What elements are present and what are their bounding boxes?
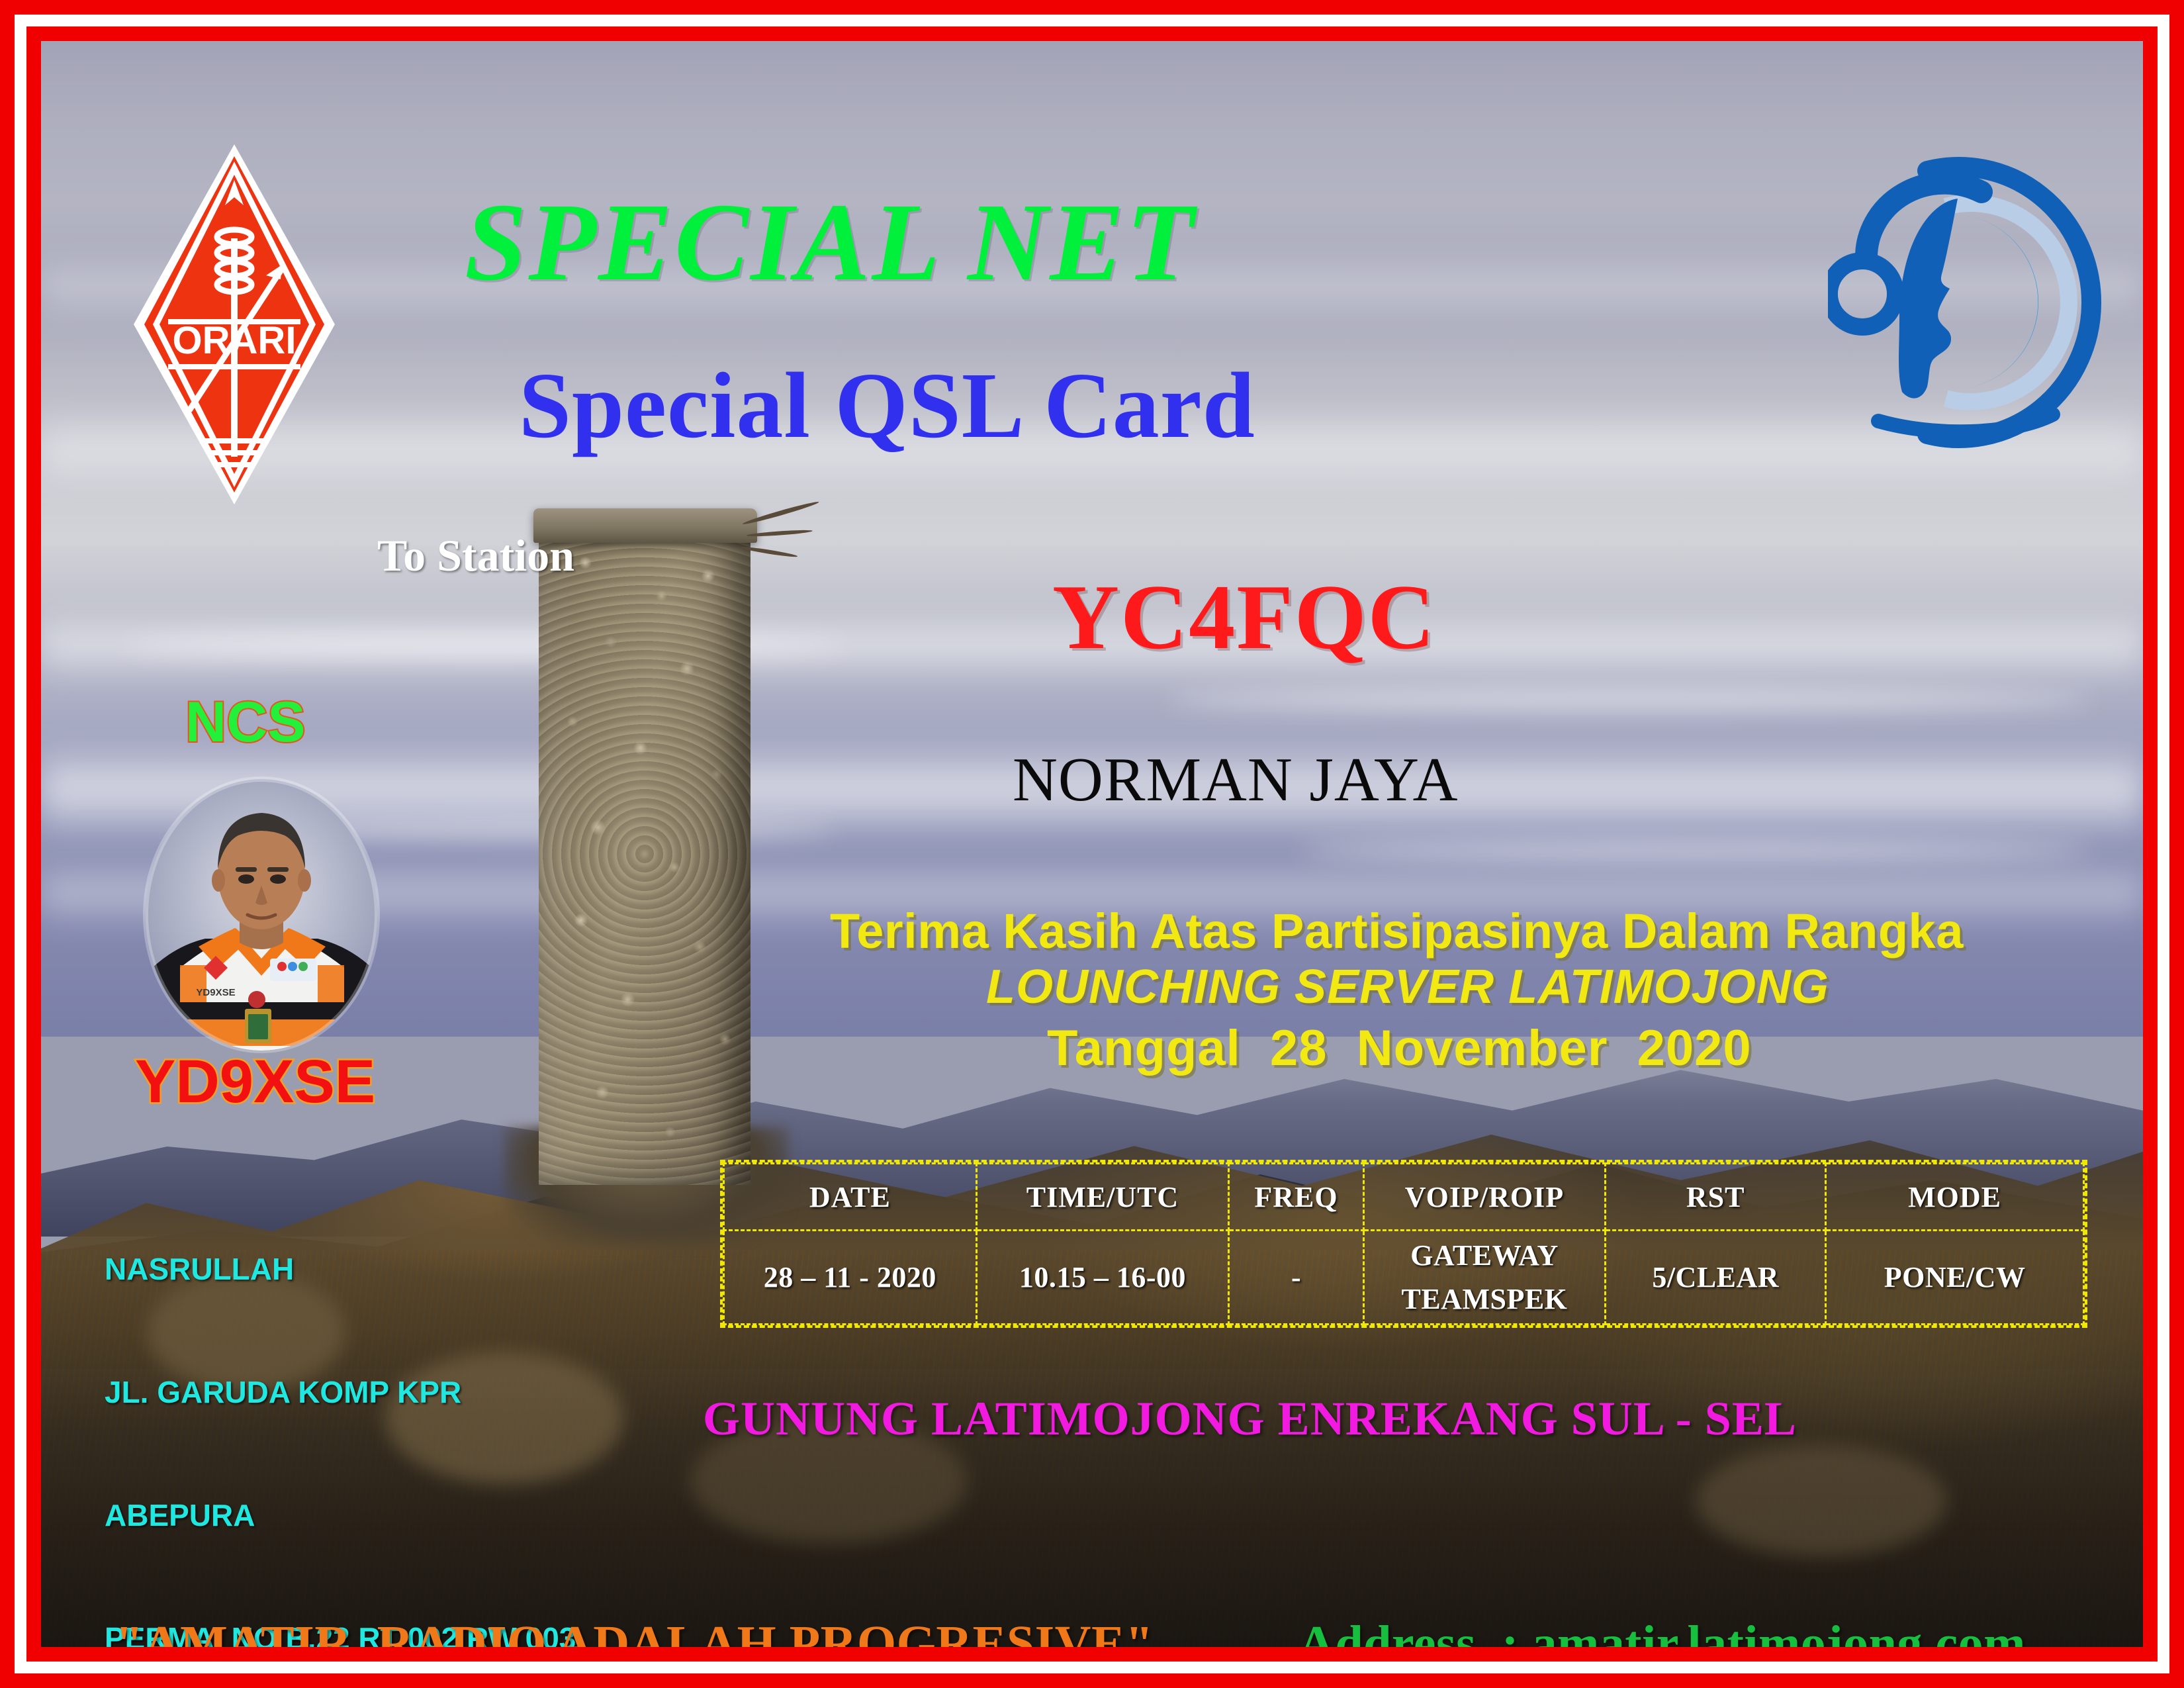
background-photograph: ORARI	[41, 41, 2143, 1647]
column-header-time: TIME/UTC	[976, 1164, 1229, 1231]
photo-patch-dot	[277, 962, 287, 971]
photo-ear-left	[212, 869, 225, 892]
orari-rule-bottom	[168, 364, 300, 369]
photo-ear-right	[298, 869, 311, 892]
headset-mic-boom	[1878, 414, 2053, 432]
cell-date: 28 – 11 - 2020	[724, 1231, 977, 1325]
qso-table-body: 28 – 11 - 2020 10.15 – 16-00 - GATEWAY T…	[724, 1231, 2084, 1325]
cell-rst: 5/CLEAR	[1606, 1231, 1826, 1325]
thanks-line-3: Tanggal 28 November 2020	[1047, 1019, 1752, 1077]
footer-web-address: Address : amatir.latimojong.com	[1298, 1615, 2026, 1647]
photo-patch-dot	[298, 962, 308, 971]
cell-mode: PONE/CW	[1826, 1231, 2084, 1325]
card-frame-inner-red: ORARI	[26, 26, 2158, 1662]
table-header-row: DATE TIME/UTC FREQ VOIP/ROIP RST MODE	[724, 1164, 2084, 1231]
address-line: NASRULLAH	[105, 1248, 576, 1289]
address-line: JL. GARUDA KOMP KPR	[105, 1372, 576, 1413]
column-header-voip: VOIP/ROIP	[1363, 1164, 1605, 1231]
cell-time: 10.15 – 16-00	[976, 1231, 1229, 1325]
mountain-caption: GUNUNG LATIMOJONG ENREKANG SUL - SEL	[703, 1391, 1797, 1446]
card-frame-white-gap: ORARI	[15, 15, 2169, 1673]
net-headset-logo	[1828, 154, 2106, 451]
column-header-rst: RST	[1606, 1164, 1826, 1231]
photo-id-badge-inner	[248, 1014, 268, 1039]
station-address-block: NASRULLAH JL. GARUDA KOMP KPR ABEPURA PE…	[105, 1166, 576, 1647]
column-header-freq: FREQ	[1229, 1164, 1363, 1231]
ncs-operator-photo: YD9XSE	[119, 769, 404, 1060]
cell-voip: GATEWAY TEAMSPEK	[1363, 1231, 1605, 1325]
qso-table-element: DATE TIME/UTC FREQ VOIP/ROIP RST MODE	[723, 1162, 2085, 1325]
qso-table-head: DATE TIME/UTC FREQ VOIP/ROIP RST MODE	[724, 1164, 2084, 1231]
operator-name: NORMAN JAYA	[1013, 744, 1459, 816]
to-station-label: To Station	[377, 530, 574, 582]
cell-freq: -	[1229, 1231, 1363, 1325]
photo-eyebrow-left	[236, 867, 257, 872]
net-headset-logo-svg	[1828, 154, 2106, 451]
ncs-callsign: YD9XSE	[135, 1047, 375, 1117]
radio-wave-mid-arc	[1946, 203, 2069, 402]
photo-badge-reel	[248, 991, 265, 1008]
radio-wave-inner	[1952, 214, 2038, 389]
table-row: 28 – 11 - 2020 10.15 – 16-00 - GATEWAY T…	[724, 1231, 2084, 1325]
footer-motto: "AMATIR RADIO ADALAH PROGRESIVE"	[115, 1615, 1154, 1647]
photo-callsign-embroidery: YD9XSE	[196, 987, 235, 998]
column-header-date: DATE	[724, 1164, 977, 1231]
qsl-card: ORARI	[0, 0, 2184, 1688]
card-subtitle: Special QSL Card	[519, 351, 1255, 459]
photo-eye-right	[270, 874, 286, 884]
photo-content: YD9XSE	[119, 769, 404, 1060]
ncs-photo-svg: YD9XSE	[119, 769, 404, 1060]
orari-wordmark: ORARI	[173, 319, 296, 362]
card-overlay-layer: ORARI	[41, 41, 2143, 1647]
headset-face-profile	[1899, 199, 1958, 399]
photo-patch-dot	[288, 962, 297, 971]
station-callsign: YC4FQC	[1052, 564, 1436, 671]
headset-earcup	[1829, 261, 1895, 327]
address-line: ABEPURA	[105, 1495, 576, 1536]
photo-eyebrow-right	[267, 867, 289, 872]
orari-logo-svg: ORARI	[128, 139, 340, 510]
orari-ground-symbol	[200, 438, 269, 467]
thanks-line-1: Terima Kasih Atas Partisipasinya Dalam R…	[830, 903, 1964, 959]
photo-eye-left	[238, 874, 254, 884]
thanks-line-2: LOUNCHING SERVER LATIMOJONG	[986, 960, 1829, 1014]
column-header-mode: MODE	[1826, 1164, 2084, 1231]
qso-log-table: DATE TIME/UTC FREQ VOIP/ROIP RST MODE	[720, 1160, 2087, 1328]
ncs-label: NCS	[185, 690, 306, 755]
page-title: SPECIAL NET	[465, 179, 1196, 306]
orari-logo: ORARI	[128, 139, 340, 510]
